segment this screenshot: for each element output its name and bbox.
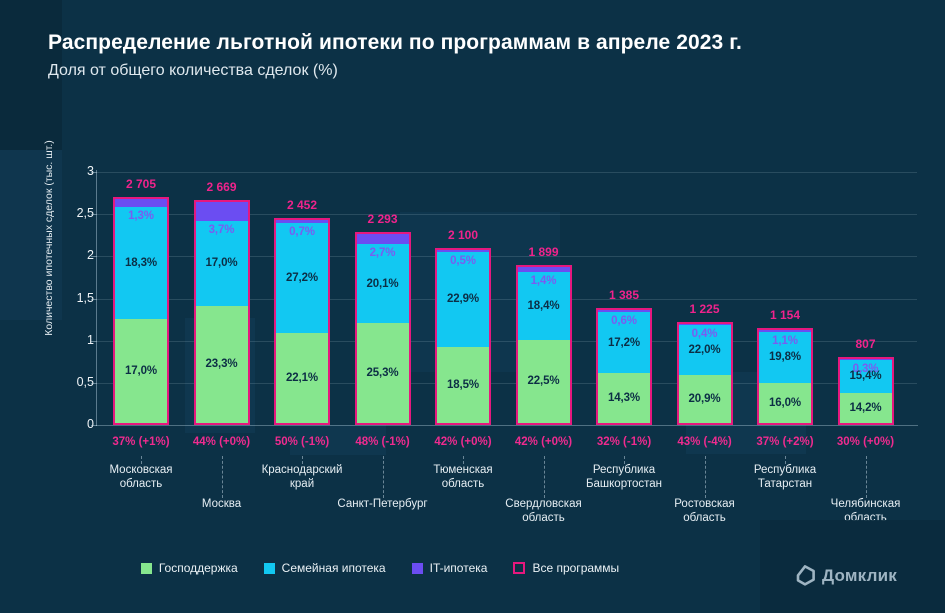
bar-segment[interactable]: 14,3% [598, 373, 650, 423]
bar-segment-label: 14,2% [849, 402, 881, 414]
bar-segment[interactable]: 19,8%1,1% [759, 332, 811, 382]
y-tick-label: 2,5 [56, 206, 94, 220]
y-tick-mark [91, 214, 97, 215]
bar-segment-label: 20,9% [688, 393, 720, 405]
bar-segment-label: 22,9% [447, 293, 479, 305]
bar-total-label: 2 293 [367, 212, 397, 226]
y-tick-label: 0 [56, 417, 94, 431]
x-category-label: Москва [202, 497, 241, 511]
bar-segment[interactable]: 17,0%3,7% [196, 221, 248, 306]
bar-segment-label: 0,4% [692, 328, 718, 340]
y-tick-label: 2 [56, 248, 94, 262]
share-change-label: 42% (+0%) [434, 436, 491, 448]
bar-total-label: 2 452 [287, 198, 317, 212]
bar-segment-label: 18,5% [447, 379, 479, 391]
bar-segment-label: 22,0% [688, 344, 720, 356]
legend-swatch [264, 563, 275, 574]
legend-label: Господдержка [159, 561, 238, 575]
bar-segment-label: 18,3% [125, 257, 157, 269]
brand-name: Домклик [822, 566, 897, 586]
bar-segment-label: 17,0% [125, 365, 157, 377]
bar-total-label: 2 705 [126, 177, 156, 191]
bar-segment[interactable]: 14,2% [840, 393, 892, 423]
x-category-label: Свердловскаяобласть [505, 497, 581, 525]
bar-group: 2 29320,1%2,7%25,3%48% (-1%)Санкт-Петерб… [355, 0, 411, 613]
y-tick-mark [91, 383, 97, 384]
x-category-label: Ростовскаяобласть [674, 497, 734, 525]
bar-segment-label: 3,7% [209, 224, 235, 236]
bar-segment[interactable]: 18,4%1,4% [518, 272, 570, 340]
x-category-label: РеспубликаБашкортостан [586, 463, 662, 491]
stacked-bar[interactable]: 27,2%0,7%22,1% [274, 218, 330, 425]
bar-segment[interactable]: 15,4%0,3% [840, 360, 892, 393]
y-tick-label: 1,5 [56, 291, 94, 305]
y-axis-ticks: 00,511,522,53 [56, 0, 94, 613]
bar-segment[interactable]: 17,0% [115, 319, 167, 423]
y-axis-title: Количество ипотечных сделок (тыс. шт.) [43, 123, 55, 353]
x-category-label: РеспубликаТатарстан [754, 463, 816, 491]
bar-group: 2 45227,2%0,7%22,1%50% (-1%)Краснодарски… [274, 0, 330, 613]
brand-logo: Домклик [795, 565, 897, 586]
legend-swatch [412, 563, 423, 574]
label-leader-line [383, 456, 385, 498]
y-tick-mark [91, 172, 97, 173]
label-leader-line [544, 456, 546, 498]
share-change-label: 37% (+2%) [756, 436, 813, 448]
bar-segment-label: 1,1% [772, 335, 798, 347]
label-leader-line [705, 456, 707, 498]
bar-segment-label: 20,1% [366, 278, 398, 290]
stacked-bar[interactable]: 20,1%2,7%25,3% [355, 232, 411, 425]
y-tick-mark [91, 425, 97, 426]
bar-segment-label: 1,4% [531, 275, 557, 287]
bar-segment[interactable]: 16,0% [759, 383, 811, 423]
bar-total-label: 1 385 [609, 288, 639, 302]
legend-item[interactable]: Семейная ипотека [264, 561, 386, 575]
chart-legend: ГосподдержкаСемейная ипотекаIT-ипотекаВс… [0, 561, 760, 575]
bar-segment[interactable]: 22,0%0,4% [679, 325, 731, 375]
bar-segment[interactable]: 22,1% [276, 333, 328, 423]
bar-group: 2 66917,0%3,7%23,3%44% (+0%)Москва [194, 0, 250, 613]
bar-total-label: 2 100 [448, 228, 478, 242]
bar-segment[interactable]: 20,9% [679, 375, 731, 423]
bar-segment[interactable]: 17,2%0,6% [598, 312, 650, 372]
bar-total-label: 1 899 [528, 245, 558, 259]
share-change-label: 48% (-1%) [355, 436, 409, 448]
stacked-bar[interactable]: 18,3%1,3%17,0% [113, 197, 169, 425]
bar-segment-label: 22,1% [286, 372, 318, 384]
y-tick-mark [91, 341, 97, 342]
x-category-label: Краснодарскийкрай [262, 463, 343, 491]
bar-segment-label: 0,3% [853, 363, 879, 375]
stacked-bar[interactable]: 19,8%1,1%16,0% [757, 328, 813, 425]
legend-swatch [513, 562, 525, 574]
bar-group: 1 38517,2%0,6%14,3%32% (-1%)РеспубликаБа… [596, 0, 652, 613]
legend-label: IT-ипотека [430, 561, 488, 575]
bar-segment[interactable]: 22,9%0,5% [437, 252, 489, 347]
stacked-bar[interactable]: 15,4%0,3%14,2% [838, 357, 894, 425]
y-tick-mark [91, 256, 97, 257]
bar-segment[interactable]: 22,5% [518, 340, 570, 423]
bar-segment[interactable] [115, 199, 167, 207]
bar-segment-label: 16,0% [769, 397, 801, 409]
share-change-label: 37% (+1%) [112, 436, 169, 448]
house-icon [795, 565, 815, 586]
bar-segment-label: 1,3% [128, 210, 154, 222]
bar-segment-label: 2,7% [370, 247, 396, 259]
bar-segment-label: 0,6% [611, 315, 637, 327]
bar-segment[interactable]: 20,1%2,7% [357, 244, 409, 323]
legend-label: Все программы [532, 561, 619, 575]
bar-group: 1 89918,4%1,4%22,5%42% (+0%)Свердловская… [516, 0, 572, 613]
bar-segment-label: 18,4% [527, 300, 559, 312]
bar-segment[interactable]: 23,3% [196, 306, 248, 423]
share-change-label: 50% (-1%) [275, 436, 329, 448]
bar-segment-label: 0,5% [450, 255, 476, 267]
bar-segment-label: 23,3% [205, 358, 237, 370]
y-tick-label: 1 [56, 333, 94, 347]
bar-segment[interactable]: 25,3% [357, 323, 409, 423]
bar-total-label: 2 669 [206, 180, 236, 194]
bar-segment[interactable]: 18,5% [437, 347, 489, 423]
label-leader-line [866, 456, 868, 498]
bar-segment-label: 14,3% [608, 392, 640, 404]
stacked-bar[interactable]: 17,0%3,7%23,3% [194, 200, 250, 425]
bar-total-label: 1 154 [770, 308, 800, 322]
bar-segment-label: 17,0% [205, 257, 237, 269]
bar-group: 2 10022,9%0,5%18,5%42% (+0%)Тюменскаяобл… [435, 0, 491, 613]
bar-segment-label: 27,2% [286, 272, 318, 284]
bar-segment[interactable] [357, 234, 409, 245]
stacked-bar[interactable]: 22,0%0,4%20,9% [677, 322, 733, 425]
bar-segment[interactable] [196, 202, 248, 221]
bar-segment-label: 25,3% [366, 367, 398, 379]
legend-item[interactable]: Все программы [513, 561, 619, 575]
share-change-label: 43% (-4%) [677, 436, 731, 448]
legend-label: Семейная ипотека [282, 561, 386, 575]
legend-swatch [141, 563, 152, 574]
share-change-label: 32% (-1%) [597, 436, 651, 448]
share-change-label: 44% (+0%) [193, 436, 250, 448]
bar-segment[interactable]: 18,3%1,3% [115, 207, 167, 319]
x-category-label: Санкт-Петербург [337, 497, 427, 511]
bar-group: 2 70518,3%1,3%17,0%37% (+1%)Московскаяоб… [113, 0, 169, 613]
bar-segment-label: 0,7% [289, 226, 315, 238]
x-category-label: Тюменскаяобласть [433, 463, 492, 491]
bar-group: 1 22522,0%0,4%20,9%43% (-4%)Ростовскаяоб… [677, 0, 733, 613]
bar-segment[interactable]: 27,2%0,7% [276, 223, 328, 333]
x-category-label: Московскаяобласть [109, 463, 172, 491]
y-tick-mark [91, 299, 97, 300]
bar-total-label: 1 225 [689, 302, 719, 316]
stacked-bar[interactable]: 18,4%1,4%22,5% [516, 265, 572, 425]
y-tick-label: 0,5 [56, 375, 94, 389]
bar-segment-label: 22,5% [527, 375, 559, 387]
stacked-bar[interactable]: 17,2%0,6%14,3% [596, 308, 652, 425]
bar-segment-label: 17,2% [608, 337, 640, 349]
y-tick-label: 3 [56, 164, 94, 178]
legend-item[interactable]: IT-ипотека [412, 561, 488, 575]
bar-segment-label: 19,8% [769, 351, 801, 363]
share-change-label: 30% (+0%) [837, 436, 894, 448]
bar-total-label: 807 [855, 337, 875, 351]
stacked-bar[interactable]: 22,9%0,5%18,5% [435, 248, 491, 425]
share-change-label: 42% (+0%) [515, 436, 572, 448]
legend-item[interactable]: Господдержка [141, 561, 238, 575]
label-leader-line [222, 456, 224, 498]
